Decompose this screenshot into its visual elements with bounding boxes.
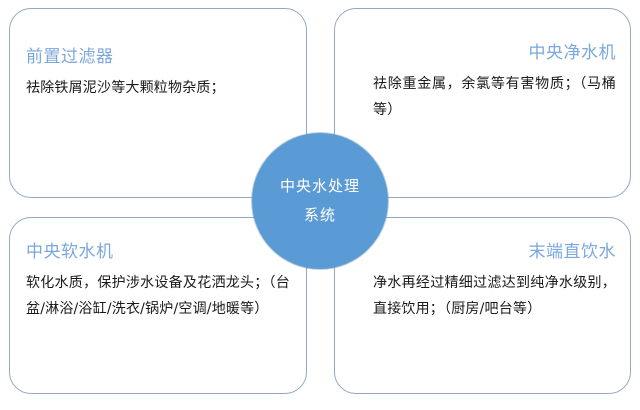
hub-label: 中央水处理系统 bbox=[277, 172, 363, 230]
node-card-central-water-softener[interactable]: 中央软水机 软化水质，保护涉水设备及花洒龙头；（台盆/淋浴/浴缸/洗衣/锅炉/空… bbox=[9, 217, 307, 394]
hub-circle-central-water-treatment-system[interactable]: 中央水处理系统 bbox=[252, 133, 388, 269]
node-body-pre-filter: 祛除铁屑泥沙等大颗粒物杂质； bbox=[26, 75, 290, 101]
node-title-pre-filter: 前置过滤器 bbox=[26, 45, 290, 69]
node-title-central-water-purifier: 中央净水机 bbox=[373, 41, 616, 65]
water-treatment-diagram: 前置过滤器 祛除铁屑泥沙等大颗粒物杂质； 中央净水机 祛除重金属，余氯等有害物质… bbox=[0, 0, 640, 410]
node-title-central-water-softener: 中央软水机 bbox=[26, 240, 290, 264]
node-title-terminal-direct-drinking-water: 末端直饮水 bbox=[373, 240, 616, 264]
node-body-central-water-softener: 软化水质，保护涉水设备及花洒龙头；（台盆/淋浴/浴缸/洗衣/锅炉/空调/地暖等） bbox=[26, 270, 290, 322]
node-body-terminal-direct-drinking-water: 净水再经过精细过滤达到纯净水级别，直接饮用；（厨房/吧台等） bbox=[373, 270, 616, 322]
node-card-terminal-direct-drinking-water[interactable]: 末端直饮水 净水再经过精细过滤达到纯净水级别，直接饮用；（厨房/吧台等） bbox=[334, 217, 631, 394]
node-body-central-water-purifier: 祛除重金属，余氯等有害物质；（马桶等） bbox=[373, 71, 616, 123]
